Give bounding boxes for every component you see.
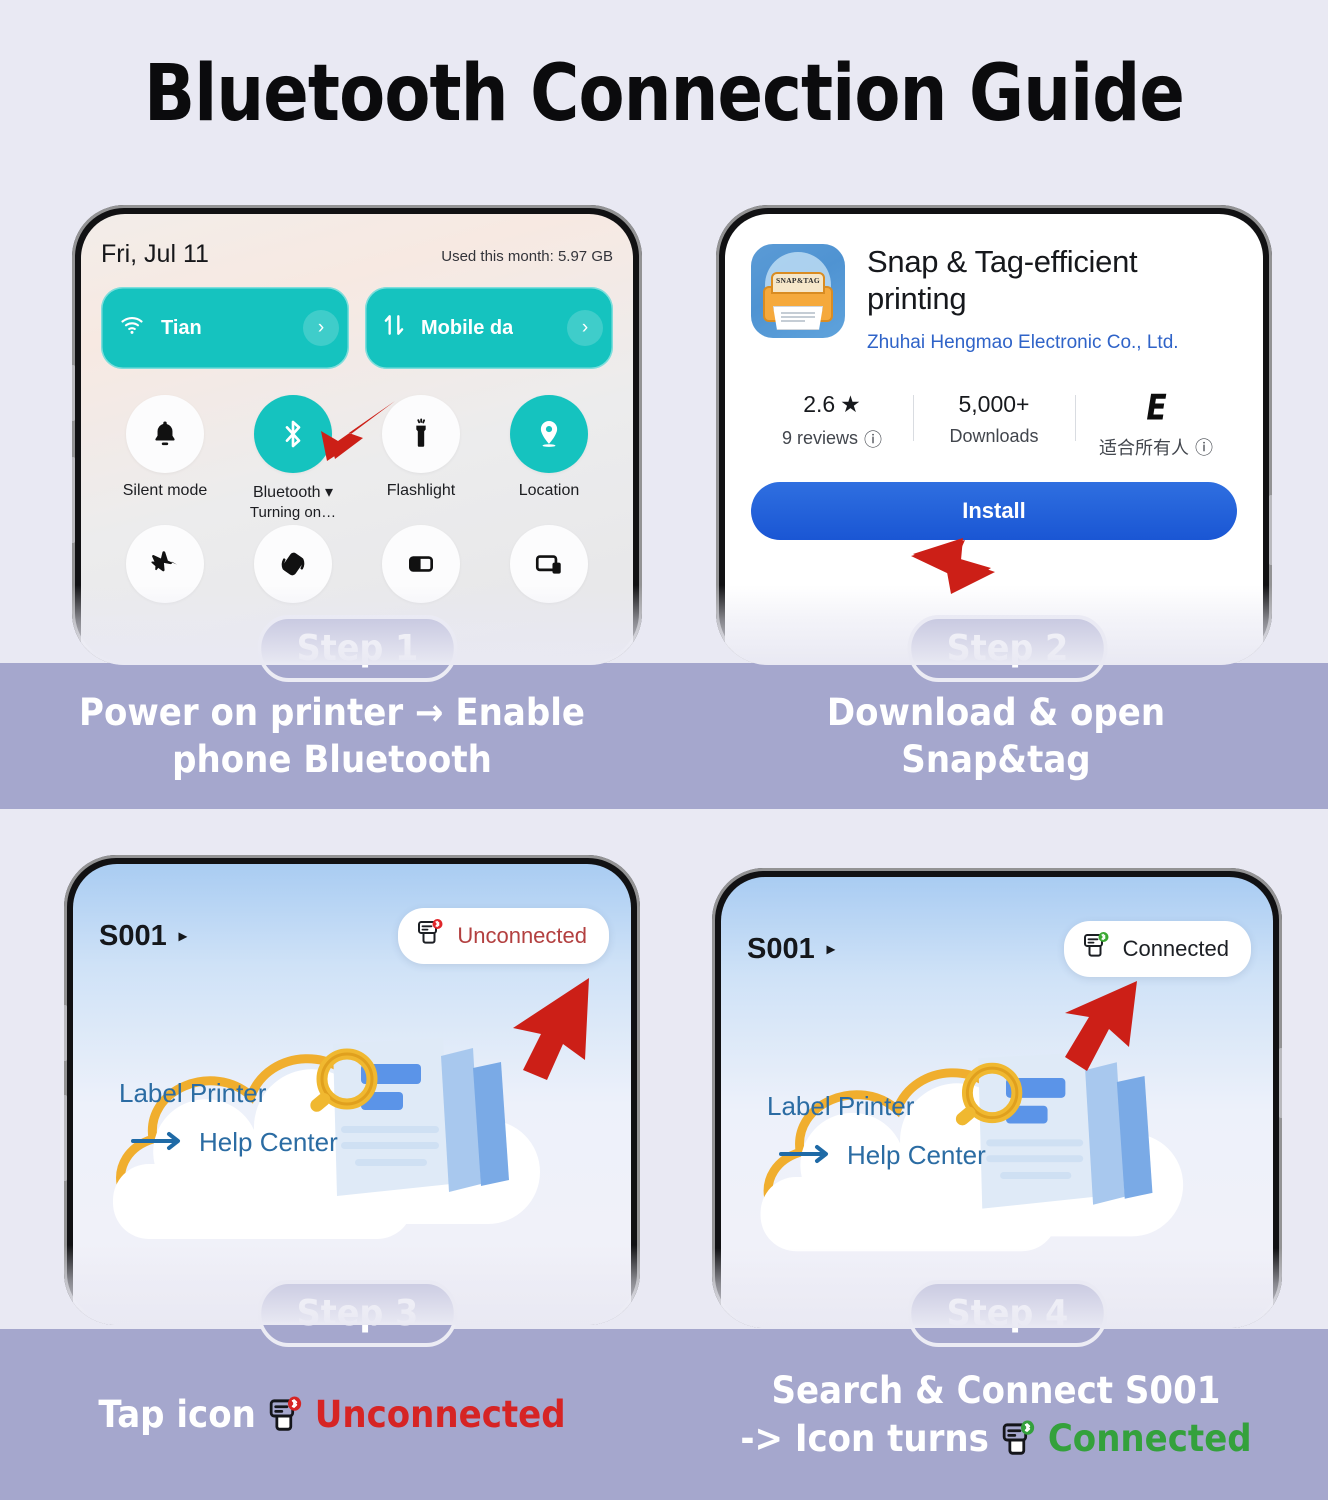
stat-content-rating: E 适合所有人 ⓘ [1075,391,1237,460]
stat-downloads: 5,000+ Downloads [913,391,1075,447]
step-pill-3: Step 3 [258,1280,458,1347]
printer-connected-icon-inline [998,1415,1038,1462]
caption-step4-line2: -> Icon turns Connected [691,1415,1302,1462]
guide-page: Bluetooth Connection Guide Fri, Jul 11 U… [0,0,1328,1500]
toggle-flashlight-label: Flashlight [387,482,455,500]
connection-status-badge[interactable]: Connected [1064,921,1251,977]
app-stats-row: 2.6 ★ 9 reviews ⓘ 5,000+ Downloads E [751,391,1237,460]
step-pill-2: Step 2 [908,615,1108,682]
reviews-label: 9 reviews [782,428,858,449]
pointer-cursor-connected [1051,975,1161,1095]
caption-step3-line1: Tap icon Unconnected [27,1391,638,1438]
app-icon: SNAP&TAG [751,244,845,338]
quick-toggle-grid-row2 [101,525,613,603]
caption-step3: Tap icon Unconnected [0,1391,664,1438]
arrow-right-icon [779,1136,833,1175]
toggle-airplane-mode[interactable] [101,525,229,603]
toggle-silent-mode-label: Silent mode [123,482,208,500]
data-usage-text: Used this month: 5.97 GB [441,248,613,269]
stat-rating: 2.6 ★ 9 reviews ⓘ [751,391,913,452]
caption-step4-status: Connected [1048,1415,1252,1462]
chevron-right-icon: ▸ [827,939,835,959]
info-icon[interactable]: ⓘ [1195,434,1213,460]
connection-status-text: Unconnected [457,923,587,949]
phone-notch [933,868,1061,877]
connectivity-tiles: Tian › Mobile da › [101,287,613,369]
app-icon-label: SNAP&TAG [771,276,825,285]
mobile-data-tile[interactable]: Mobile da › [365,287,613,369]
pointer-arrow-bluetooth [291,389,401,479]
caption-banner-top: Power on printer → Enable phone Bluetoot… [0,663,1328,809]
help-center-text[interactable]: Label Printer Help Center [767,1087,986,1175]
caption-banner-bottom: Tap icon Unconnected Search & Connect S0… [0,1329,1328,1500]
location-icon [510,395,588,473]
mobile-data-tile-label: Mobile da [421,317,513,340]
toggle-auto-rotate[interactable] [229,525,357,603]
star-icon: ★ [840,391,861,418]
app-title: Snap & Tag-efficient printing [867,244,1237,317]
phone-step1: Fri, Jul 11 Used this month: 5.97 GB Tia… [72,205,642,665]
phone-step2: SNAP&TAG Snap & Tag-efficient printing Z… [716,205,1272,665]
wifi-tile[interactable]: Tian › [101,287,349,369]
phone-volume-button [64,1005,67,1061]
toggle-bluetooth-label: Bluetooth ▾ [253,482,333,502]
airplane-icon [126,525,204,603]
caption-step4-prefix: -> Icon turns [740,1415,989,1462]
device-name: S001 [747,933,815,966]
pointer-cursor-unconnected [493,974,603,1094]
connection-status-badge[interactable]: Unconnected [398,908,609,964]
printer-unconnected-icon-inline [265,1391,305,1438]
printer-unconnected-icon [414,918,446,954]
rating-value: 2.6 [803,391,835,418]
caption-step3-status: Unconnected [315,1391,566,1438]
help-line-label-printer: Label Printer [767,1087,986,1126]
phone-notch [288,855,416,864]
step-pill-4: Step 4 [908,1280,1108,1347]
phone-volume-button [1279,1048,1282,1118]
downloads-value: 5,000+ [959,391,1030,418]
pointer-arrow-install [903,534,1023,614]
toggle-bluetooth-status: Turning on… [250,504,336,521]
wifi-chevron-icon[interactable]: › [303,310,339,346]
device-selector[interactable]: S001 ▸ [747,933,835,966]
device-name: S001 [99,920,167,953]
info-icon[interactable]: ⓘ [864,426,882,452]
mobile-data-icon [381,312,407,344]
phone-volume-button [1269,495,1272,565]
quick-settings-screen: Fri, Jul 11 Used this month: 5.97 GB Tia… [81,214,633,665]
caption-step2: Download & open Snap&tag [664,689,1328,784]
help-line-help-center: Help Center [199,1123,338,1162]
toggle-split-screen[interactable] [357,525,485,603]
play-store-screen: SNAP&TAG Snap & Tag-efficient printing Z… [725,214,1263,665]
device-selector[interactable]: S001 ▸ [99,920,187,953]
phone-power-button [64,1095,67,1181]
caption-step1-line1: Power on printer → Enable [27,689,638,736]
toggle-location[interactable]: Location [485,395,613,521]
printer-connected-icon [1080,931,1112,967]
phone-step4: S001 ▸ [712,868,1282,1328]
phone-volume-button [72,365,75,421]
app-developer[interactable]: Zhuhai Hengmao Electronic Co., Ltd. [867,329,1237,357]
help-line-help-center: Help Center [847,1136,986,1175]
phone-power-button [72,457,75,543]
wifi-icon [117,313,147,343]
downloads-label: Downloads [949,426,1038,447]
app-home-screen-unconnected: S001 ▸ [73,864,631,1325]
connection-status-text: Connected [1123,936,1229,962]
caption-step3-prefix: Tap icon [98,1391,255,1438]
phone-notch [930,205,1058,214]
caption-step1-line2: phone Bluetooth [27,736,638,783]
toggle-location-label: Location [519,482,580,500]
caption-step4-line1: Search & Connect S001 [691,1367,1302,1414]
arrow-right-icon [131,1123,185,1162]
caption-step2-line1: Download & open [691,689,1302,736]
chevron-right-icon: ▸ [179,926,187,946]
wifi-tile-label: Tian [161,317,202,340]
phone-step3: S001 ▸ [64,855,640,1325]
split-screen-icon [382,525,460,603]
mobile-data-chevron-icon[interactable]: › [567,310,603,346]
caption-step2-line2: Snap&tag [691,736,1302,783]
help-line-label-printer: Label Printer [119,1074,338,1113]
phone-notch [293,205,421,214]
caption-step4: Search & Connect S001 -> Icon turns Conn… [664,1367,1328,1462]
auto-rotate-icon [254,525,332,603]
content-rating-label: 适合所有人 [1099,434,1189,460]
app-home-screen-connected: S001 ▸ [721,877,1273,1328]
cast-icon [510,525,588,603]
bell-icon [126,395,204,473]
install-button[interactable]: Install [751,482,1237,540]
everyone-rating-icon: E [1142,388,1169,429]
toggle-silent-mode[interactable]: Silent mode [101,395,229,521]
status-date: Fri, Jul 11 [101,240,209,269]
toggle-cast[interactable] [485,525,613,603]
caption-step1: Power on printer → Enable phone Bluetoot… [0,689,664,784]
page-title: Bluetooth Connection Guide [93,54,1235,136]
step-pill-1: Step 1 [258,615,458,682]
help-center-text[interactable]: Label Printer Help Center [119,1074,338,1162]
